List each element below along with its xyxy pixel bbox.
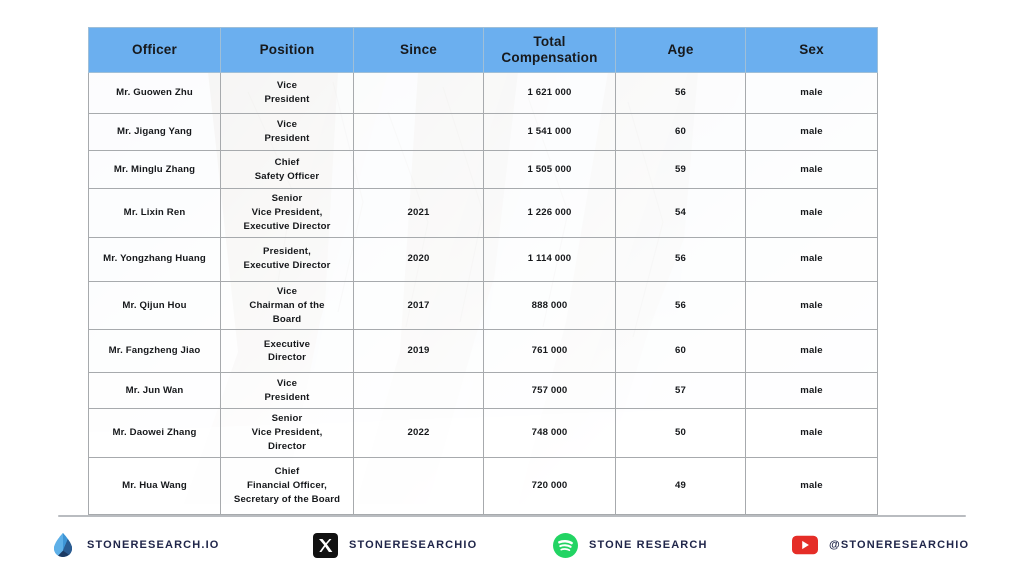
cell-position: ChiefFinancial Officer,Secretary of the … <box>221 458 354 515</box>
column-header-total-compensation-line1: Total <box>533 34 565 49</box>
cell-officer: Mr. Minglu Zhang <box>89 151 221 189</box>
cell-since: 2019 <box>354 330 484 373</box>
brand-x-twitter-label: STONERESEARCHIO <box>349 539 477 551</box>
cell-officer: Mr. Fangzheng Jiao <box>89 330 221 373</box>
cell-sex: male <box>746 373 878 409</box>
cell-age: 59 <box>616 151 746 189</box>
brand-website-label: STONERESEARCH.IO <box>87 539 220 551</box>
column-header-officer[interactable]: Officer <box>89 28 221 73</box>
cell-sex: male <box>746 237 878 281</box>
cell-officer: Mr. Qijun Hou <box>89 281 221 330</box>
table-row: Mr. Guowen ZhuVicePresident1 621 00056ma… <box>89 73 878 114</box>
cell-since: 2021 <box>354 189 484 238</box>
table-row: Mr. Hua WangChiefFinancial Officer,Secre… <box>89 458 878 515</box>
table-row: Mr. Yongzhang HuangPresident,Executive D… <box>89 237 878 281</box>
cell-since: 2017 <box>354 281 484 330</box>
cell-officer: Mr. Daowei Zhang <box>89 409 221 458</box>
cell-age: 50 <box>616 409 746 458</box>
table-header: Officer Position Since Total Compensatio… <box>89 28 878 73</box>
cell-sex: male <box>746 189 878 238</box>
cell-position: ViceChairman of theBoard <box>221 281 354 330</box>
cell-position: VicePresident <box>221 73 354 114</box>
cell-compensation: 720 000 <box>484 458 616 515</box>
column-header-age[interactable]: Age <box>616 28 746 73</box>
cell-compensation: 888 000 <box>484 281 616 330</box>
cell-sex: male <box>746 114 878 151</box>
brand-youtube[interactable]: @STONERESEARCHIO <box>792 528 980 562</box>
cell-age: 54 <box>616 189 746 238</box>
column-header-position[interactable]: Position <box>221 28 354 73</box>
cell-since: 2020 <box>354 237 484 281</box>
slide-canvas: Officer Position Since Total Compensatio… <box>0 0 1024 576</box>
brand-youtube-label: @STONERESEARCHIO <box>829 539 969 551</box>
cell-officer: Mr. Jigang Yang <box>89 114 221 151</box>
cell-officer: Mr. Jun Wan <box>89 373 221 409</box>
spotify-icon <box>552 532 578 558</box>
column-header-since[interactable]: Since <box>354 28 484 73</box>
header-row: Officer Position Since Total Compensatio… <box>89 28 878 73</box>
cell-sex: male <box>746 330 878 373</box>
x-twitter-icon <box>312 532 338 558</box>
column-header-sex[interactable]: Sex <box>746 28 878 73</box>
cell-age: 57 <box>616 373 746 409</box>
cell-compensation: 1 541 000 <box>484 114 616 151</box>
cell-position: VicePresident <box>221 373 354 409</box>
cell-position: VicePresident <box>221 114 354 151</box>
table-row: Mr. Jun WanVicePresident757 00057male <box>89 373 878 409</box>
cell-age: 56 <box>616 73 746 114</box>
cell-since: 2022 <box>354 409 484 458</box>
officers-table-container: Officer Position Since Total Compensatio… <box>88 27 877 504</box>
cell-age: 60 <box>616 114 746 151</box>
column-header-total-compensation[interactable]: Total Compensation <box>484 28 616 73</box>
cell-age: 49 <box>616 458 746 515</box>
cell-officer: Mr. Hua Wang <box>89 458 221 515</box>
table-row: Mr. Lixin RenSeniorVice President,Execut… <box>89 189 878 238</box>
table-row: Mr. Qijun HouViceChairman of theBoard201… <box>89 281 878 330</box>
cell-age: 56 <box>616 281 746 330</box>
cell-compensation: 1 505 000 <box>484 151 616 189</box>
table-row: Mr. Daowei ZhangSeniorVice President,Dir… <box>89 409 878 458</box>
cell-since <box>354 73 484 114</box>
table-body: Mr. Guowen ZhuVicePresident1 621 00056ma… <box>89 73 878 515</box>
cell-since <box>354 458 484 515</box>
cell-sex: male <box>746 409 878 458</box>
cell-position: ExecutiveDirector <box>221 330 354 373</box>
cell-compensation: 757 000 <box>484 373 616 409</box>
brand-x-twitter[interactable]: STONERESEARCHIO <box>312 528 552 562</box>
cell-position: President,Executive Director <box>221 237 354 281</box>
brand-spotify-label: STONE RESEARCH <box>589 539 708 551</box>
cell-compensation: 1 226 000 <box>484 189 616 238</box>
cell-since <box>354 114 484 151</box>
cell-since <box>354 373 484 409</box>
cell-position: SeniorVice President,Director <box>221 409 354 458</box>
cell-sex: male <box>746 151 878 189</box>
cell-compensation: 761 000 <box>484 330 616 373</box>
cell-sex: male <box>746 281 878 330</box>
cell-sex: male <box>746 458 878 515</box>
cell-position: SeniorVice President,Executive Director <box>221 189 354 238</box>
table-row: Mr. Fangzheng JiaoExecutiveDirector20197… <box>89 330 878 373</box>
cell-officer: Mr. Guowen Zhu <box>89 73 221 114</box>
cell-compensation: 1 621 000 <box>484 73 616 114</box>
footer-brand-bar: STONERESEARCH.IO STONERESEARCHIO <box>50 528 980 562</box>
cell-position: ChiefSafety Officer <box>221 151 354 189</box>
brand-website[interactable]: STONERESEARCH.IO <box>50 528 312 562</box>
cell-compensation: 1 114 000 <box>484 237 616 281</box>
footer-divider <box>58 515 966 517</box>
cell-compensation: 748 000 <box>484 409 616 458</box>
youtube-icon <box>792 532 818 558</box>
cell-officer: Mr. Lixin Ren <box>89 189 221 238</box>
cell-sex: male <box>746 73 878 114</box>
cell-since <box>354 151 484 189</box>
table-row: Mr. Jigang YangVicePresident1 541 00060m… <box>89 114 878 151</box>
cell-officer: Mr. Yongzhang Huang <box>89 237 221 281</box>
table-row: Mr. Minglu ZhangChiefSafety Officer1 505… <box>89 151 878 189</box>
stone-droplet-icon <box>50 532 76 558</box>
column-header-total-compensation-line2: Compensation <box>501 50 597 65</box>
officers-table: Officer Position Since Total Compensatio… <box>88 27 878 515</box>
cell-age: 60 <box>616 330 746 373</box>
cell-age: 56 <box>616 237 746 281</box>
brand-spotify[interactable]: STONE RESEARCH <box>552 528 792 562</box>
